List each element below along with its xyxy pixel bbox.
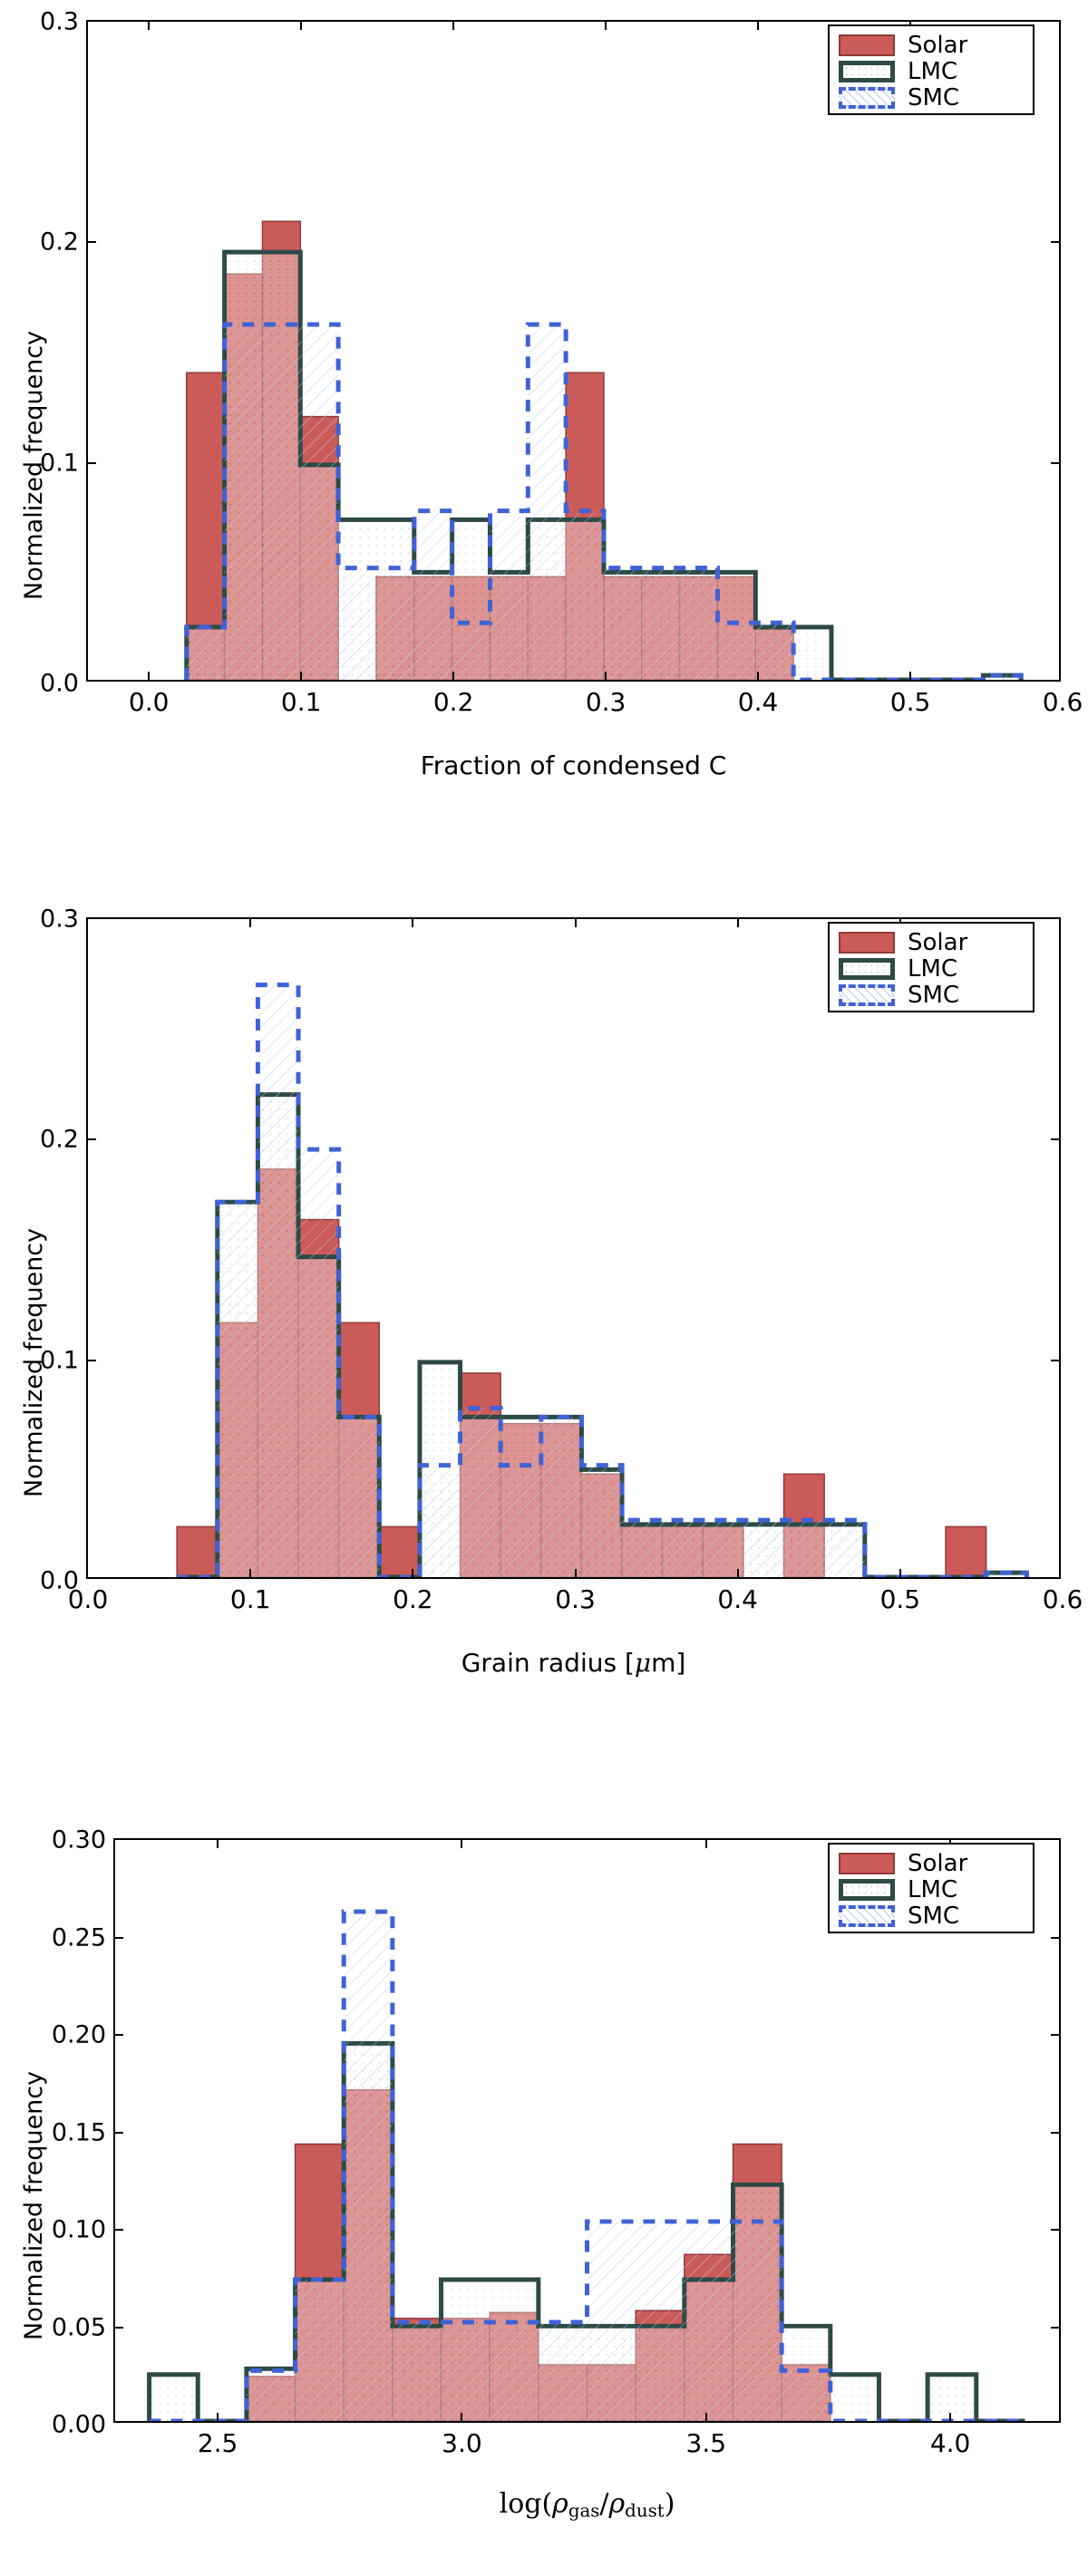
y-tick-label: 0.25 xyxy=(52,1923,106,1951)
legend-label-smc: SMC xyxy=(908,86,959,110)
x-tickmark xyxy=(148,22,150,30)
x-tick-label: 0.3 xyxy=(586,687,627,717)
x-tick-label: 0.0 xyxy=(129,687,170,717)
y-tickmark xyxy=(115,2229,123,2231)
x-tick-label: 3.0 xyxy=(442,2428,482,2458)
x-tickmark xyxy=(575,1569,577,1577)
x-axis-label-middle-mu: μ xyxy=(635,1648,651,1678)
y-tick-label: 0.0 xyxy=(40,670,79,698)
y-axis-label-bottom: Normalized frequency xyxy=(20,2071,48,2340)
x-tickmark xyxy=(757,22,759,30)
x-tickmark xyxy=(412,1569,413,1577)
x-axis-label-bottom-sub-dust: dust xyxy=(625,2500,665,2521)
x-tick-label: 0.6 xyxy=(1043,687,1083,717)
x-tick-label: 4.0 xyxy=(930,2428,971,2458)
x-tickmark xyxy=(452,22,454,30)
legend-swatch-lmc xyxy=(839,958,895,980)
legend-top: Solar LMC SMC xyxy=(828,24,1035,115)
y-tickmark xyxy=(1051,1937,1059,1939)
x-tickmark xyxy=(575,919,577,927)
y-tickmark xyxy=(115,1937,123,1939)
x-tick-label: 2.5 xyxy=(198,2428,238,2458)
x-tickmark xyxy=(909,672,911,680)
plot-area-middle: 0.00.10.20.30.00.10.20.30.40.50.6 xyxy=(86,917,1061,1579)
y-tick-label: 0.3 xyxy=(40,8,79,36)
legend-swatch-lmc xyxy=(839,1879,895,1901)
x-tickmark xyxy=(737,919,739,927)
y-tickmark xyxy=(1051,462,1059,464)
x-tickmark xyxy=(605,22,607,30)
x-tickmark xyxy=(705,1840,707,1848)
x-tickmark xyxy=(737,1569,739,1577)
legend-item-smc: SMC xyxy=(839,84,1024,111)
x-axis-label-bottom-rho-dust: ρ xyxy=(609,2488,626,2520)
legend-label-solar: Solar xyxy=(908,931,967,954)
y-axis-label-middle: Normalized frequency xyxy=(20,1228,48,1497)
x-tickmark xyxy=(949,2413,951,2421)
y-tick-label: 0.30 xyxy=(52,1826,106,1855)
legend-label-smc: SMC xyxy=(908,1904,959,1928)
y-tick-label: 0.15 xyxy=(52,2118,106,2146)
x-tickmark xyxy=(452,672,454,680)
x-tick-label: 0.5 xyxy=(890,687,931,717)
x-tick-label: 0.0 xyxy=(68,1584,109,1614)
panel-top: 0.00.10.20.30.00.10.20.30.40.50.6 Normal… xyxy=(0,0,1088,861)
legend-label-lmc: LMC xyxy=(908,60,957,83)
figure-root: 0.00.10.20.30.00.10.20.30.40.50.6 Normal… xyxy=(0,0,1088,2576)
legend-swatch-solar xyxy=(839,34,895,56)
legend-item-smc: SMC xyxy=(839,1903,1024,1929)
legend-item-lmc: LMC xyxy=(839,955,1024,982)
legend-item-solar: Solar xyxy=(839,929,1024,955)
x-tickmark xyxy=(757,672,759,680)
histogram-top xyxy=(88,22,1059,680)
y-tick-label: 0.05 xyxy=(52,2313,106,2341)
legend-swatch-smc xyxy=(839,87,895,109)
y-tickmark xyxy=(115,2132,123,2134)
x-tick-label: 0.4 xyxy=(738,687,779,717)
legend-item-lmc: LMC xyxy=(839,58,1024,84)
y-tickmark xyxy=(1051,1138,1059,1140)
x-tickmark xyxy=(412,919,413,927)
plot-area-top: 0.00.10.20.30.00.10.20.30.40.50.6 xyxy=(86,20,1061,682)
y-tickmark xyxy=(1051,2327,1059,2329)
x-tick-label: 0.5 xyxy=(880,1584,921,1614)
x-tick-label: 0.2 xyxy=(393,1584,433,1614)
x-axis-label-bottom-slash: / xyxy=(599,2488,608,2520)
histogram-middle xyxy=(88,919,1059,1577)
y-tick-label: 0.2 xyxy=(40,1126,79,1154)
legend-middle: Solar LMC SMC xyxy=(828,922,1035,1012)
x-tickmark xyxy=(300,672,302,680)
x-tickmark xyxy=(249,1569,251,1577)
y-tickmark xyxy=(1051,1360,1059,1361)
panel-bottom: 0.000.050.100.150.200.250.302.53.03.54.0… xyxy=(0,1767,1088,2576)
x-tickmark xyxy=(605,672,607,680)
legend-item-smc: SMC xyxy=(839,982,1024,1008)
legend-swatch-solar xyxy=(839,932,895,954)
x-tick-label: 0.2 xyxy=(433,687,474,717)
x-axis-label-bottom-rho-gas: ρ xyxy=(552,2488,568,2520)
y-tick-label: 0.10 xyxy=(52,2216,106,2244)
x-axis-label-middle-suffix: m] xyxy=(651,1648,685,1678)
x-axis-label-bottom-log: log( xyxy=(500,2488,553,2520)
legend-swatch-smc xyxy=(839,984,895,1006)
legend-label-solar: Solar xyxy=(908,1852,967,1875)
x-axis-label-bottom: log(ρgas/ρdust) xyxy=(113,2488,1061,2521)
legend-swatch-lmc xyxy=(839,61,895,82)
x-tickmark xyxy=(705,2413,707,2421)
x-tick-label: 0.1 xyxy=(230,1584,271,1614)
y-tickmark xyxy=(88,462,96,464)
y-tickmark xyxy=(88,241,96,243)
y-tickmark xyxy=(115,2327,123,2329)
legend-item-solar: Solar xyxy=(839,1850,1024,1876)
x-axis-label-middle: Grain radius [μm] xyxy=(86,1648,1061,1678)
x-tickmark xyxy=(461,1840,462,1848)
y-tick-label: 0.00 xyxy=(52,2411,106,2439)
legend-item-lmc: LMC xyxy=(839,1876,1024,1903)
x-tick-label: 0.4 xyxy=(717,1584,758,1614)
legend-swatch-solar xyxy=(839,1853,895,1874)
x-tickmark xyxy=(249,919,251,927)
legend-label-lmc: LMC xyxy=(908,1878,957,1902)
x-tick-label: 0.3 xyxy=(555,1584,596,1614)
legend-label-smc: SMC xyxy=(908,983,959,1007)
x-tickmark xyxy=(899,1569,901,1577)
y-tickmark xyxy=(88,1360,96,1361)
x-tick-label: 0.1 xyxy=(281,687,322,717)
x-axis-label-middle-prefix: Grain radius [ xyxy=(461,1648,635,1678)
x-tick-label: 0.6 xyxy=(1043,1584,1083,1614)
x-tickmark xyxy=(217,2413,219,2421)
x-axis-label-top: Fraction of condensed C xyxy=(86,751,1061,780)
y-axis-label-top: Normalized frequency xyxy=(20,331,48,600)
legend-bottom: Solar LMC SMC xyxy=(828,1843,1035,1933)
x-tickmark xyxy=(148,672,150,680)
y-tickmark xyxy=(1051,241,1059,243)
y-tickmark xyxy=(115,2034,123,2036)
y-tickmark xyxy=(1051,2034,1059,2036)
panel-middle: 0.00.10.20.30.00.10.20.30.40.50.6 Normal… xyxy=(0,861,1088,1767)
legend-label-solar: Solar xyxy=(908,34,967,57)
y-tickmark xyxy=(1051,2229,1059,2231)
y-tick-label: 0.2 xyxy=(40,228,79,257)
x-tickmark xyxy=(461,2413,462,2421)
x-tick-label: 3.5 xyxy=(686,2428,727,2458)
y-tick-label: 0.3 xyxy=(40,905,79,934)
legend-item-solar: Solar xyxy=(839,32,1024,58)
y-tick-label: 0.20 xyxy=(52,2021,106,2049)
x-axis-label-bottom-sub-gas: gas xyxy=(568,2500,600,2521)
x-axis-label-bottom-close: ) xyxy=(665,2488,675,2520)
legend-label-lmc: LMC xyxy=(908,957,957,981)
y-tickmark xyxy=(88,1138,96,1140)
legend-swatch-smc xyxy=(839,1905,895,1927)
y-tickmark xyxy=(1051,2132,1059,2134)
x-tickmark xyxy=(217,1840,219,1848)
x-tickmark xyxy=(300,22,302,30)
